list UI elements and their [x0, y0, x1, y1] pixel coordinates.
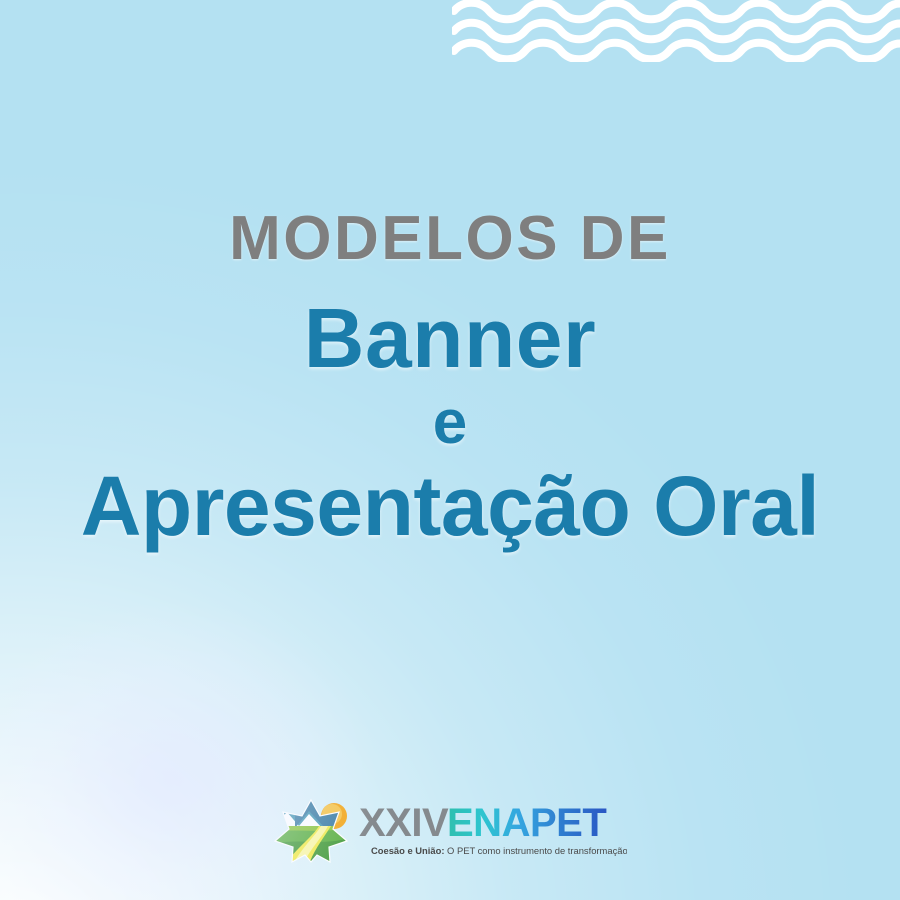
- enapet-tagline: Coesão e União: O PET como instrumento d…: [359, 843, 627, 859]
- tagline-rest-part: O PET como instrumento de transformação: [444, 845, 627, 856]
- logo-edition-numeral: XXIV: [359, 803, 449, 845]
- tagline-bold-part: Coesão e União:: [371, 845, 444, 856]
- enapet-wordmark: XXIV ENAPET: [359, 803, 627, 845]
- slide-kicker: MODELOS DE: [0, 206, 900, 271]
- enapet-logo-lockup: XXIV ENAPET Coesão e União: O PET como i…: [0, 798, 900, 864]
- logo-name: ENAPET: [447, 803, 606, 845]
- slide-headline-conjunction: e: [0, 390, 900, 457]
- slide-headline-apresentacao-oral: Apresentação Oral: [0, 461, 900, 552]
- slide-text-block: MODELOS DE Banner e Apresentação Oral: [0, 206, 900, 551]
- wavy-lines-decoration: [452, 0, 900, 62]
- slide-headline-banner: Banner: [0, 293, 900, 384]
- enapet-star-landscape-icon: [273, 798, 349, 864]
- svg-text:Coesão e União: O PET como ins: Coesão e União: O PET como instrumento d…: [371, 845, 627, 856]
- presentation-slide: MODELOS DE Banner e Apresentação Oral: [0, 0, 900, 900]
- wavy-lines-icon: [452, 0, 900, 62]
